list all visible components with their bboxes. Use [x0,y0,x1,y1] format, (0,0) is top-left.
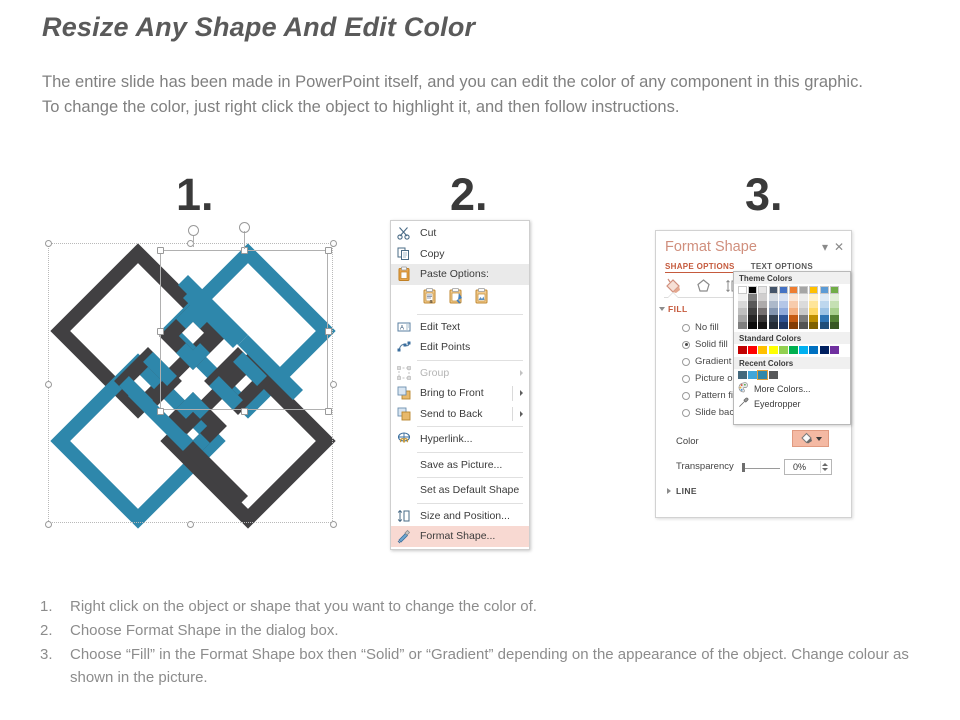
right-click-context-menu[interactable]: Cut Copy Paste Options: [390,220,530,550]
color-swatch[interactable] [748,322,757,329]
transparency-slider-knob[interactable] [742,463,745,472]
instruction-number: 1. [40,595,70,618]
handle-sw[interactable] [45,521,52,528]
inner-handle-e[interactable] [325,328,332,335]
rotate-stem-a [193,235,194,247]
color-swatch[interactable] [738,322,747,329]
color-swatch[interactable] [769,294,778,301]
color-swatch[interactable] [758,308,767,315]
submenu-separator [512,407,513,422]
color-swatch[interactable] [820,286,829,294]
hyperlink-icon [396,431,412,447]
menu-divider [417,360,523,361]
instruction-text: Right click on the object or shape that … [70,595,940,618]
menu-item-save-as-picture[interactable]: Save as Picture... [391,455,529,476]
handle-s[interactable] [187,521,194,528]
menu-label: Edit Points [420,341,470,353]
list-item: 1. Right click on the object or shape th… [40,595,940,618]
color-swatch[interactable] [809,322,818,329]
menu-item-edit-points[interactable]: Edit Points [391,337,529,358]
menu-label: Bring to Front [420,387,484,399]
color-swatch[interactable] [769,315,778,322]
list-item: 2. Choose Format Shape in the dialog box… [40,619,940,642]
theme-color-row[interactable] [738,301,850,308]
inner-handle-sw[interactable] [157,408,164,415]
eyedropper-icon [738,397,749,410]
color-swatch[interactable] [830,286,839,294]
menu-label: Send to Back [420,408,482,420]
color-label: Color [676,436,699,447]
color-swatch[interactable] [779,346,788,354]
theme-color-row[interactable] [738,308,850,315]
color-swatch[interactable] [748,371,757,379]
more-colors-label: More Colors... [754,384,811,394]
instruction-text: Choose Format Shape in the dialog box. [70,619,940,642]
color-swatch[interactable] [789,286,798,294]
scissors-icon [396,225,412,241]
radio-icon [682,409,690,417]
color-swatch[interactable] [779,286,788,294]
color-swatch[interactable] [789,308,798,315]
color-swatch[interactable] [799,286,808,294]
inner-handle-se[interactable] [325,408,332,415]
radio-icon [682,341,690,349]
color-swatch[interactable] [748,286,757,294]
transparency-label: Transparency [676,461,734,472]
eyedropper-item[interactable]: Eyedropper [734,396,850,411]
color-swatch[interactable] [820,315,829,322]
color-swatch[interactable] [769,308,778,315]
chevron-right-icon [520,411,523,417]
step-number-1: 1. [176,172,214,217]
radio-icon [682,375,690,383]
color-picker-button[interactable] [792,430,829,447]
recent-colors-title: Recent Colors [734,357,850,369]
radio-label: Solid fill [695,339,728,350]
chevron-down-icon[interactable] [816,437,822,441]
rotate-handle-b[interactable] [239,222,250,233]
color-swatch[interactable] [830,346,839,354]
page-subtitle: The entire slide has been made in PowerP… [42,70,872,120]
color-swatch[interactable] [830,294,839,301]
inner-handle-ne[interactable] [325,247,332,254]
color-swatch[interactable] [779,315,788,322]
radio-label: No fill [695,322,719,333]
format-shape-title: Format Shape [665,239,757,255]
active-tab-caret [668,293,678,298]
menu-item-edit-text[interactable]: A Edit Text [391,317,529,338]
inner-selection-box[interactable] [160,250,328,410]
radio-icon [682,392,690,400]
group-icon [396,365,412,381]
menu-item-bring-to-front[interactable]: Bring to Front [391,383,529,404]
edit-text-icon: A [396,319,412,335]
menu-item-paste-options[interactable]: Paste Options: [391,264,529,285]
color-swatch[interactable] [830,301,839,308]
color-swatch[interactable] [779,322,788,329]
color-swatch[interactable] [820,322,829,329]
color-swatch[interactable] [758,286,767,294]
step-number-3: 3. [745,172,783,217]
handle-se[interactable] [330,521,337,528]
menu-label: Copy [420,248,445,260]
menu-label: Edit Text [420,321,460,333]
color-swatch[interactable] [758,371,767,379]
menu-item-cut[interactable]: Cut [391,223,529,244]
color-swatch[interactable] [738,346,747,354]
paste-icon [396,266,412,282]
menu-item-hyperlink[interactable]: Hyperlink... [391,429,529,450]
color-swatch[interactable] [769,301,778,308]
color-swatch[interactable] [769,286,778,294]
menu-divider [417,477,523,478]
color-swatch[interactable] [789,346,798,354]
step-number-2: 2. [450,172,488,217]
edit-points-icon [396,339,412,355]
color-swatch[interactable] [779,294,788,301]
menu-item-format-shape[interactable]: Format Shape... [391,526,529,547]
color-swatch[interactable] [799,346,808,354]
fill-section-label: FILL [668,304,688,314]
copy-icon [396,246,412,262]
handle-w[interactable] [45,381,52,388]
theme-color-row[interactable] [738,286,850,294]
menu-label: Set as Default Shape [420,484,519,496]
color-swatch[interactable] [820,308,829,315]
size-position-icon [396,508,412,524]
svg-text:A: A [400,325,404,331]
menu-label: Cut [420,227,436,239]
fill-color-swatch-icon [799,431,814,447]
submenu-separator [512,386,513,401]
menu-label: Group [420,367,449,379]
spinner-arrows-icon[interactable] [820,461,829,473]
paste-keep-source-icon[interactable]: a [421,287,438,308]
color-swatch[interactable] [738,308,747,315]
paste-destination-theme-icon[interactable] [447,287,464,308]
menu-label: Save as Picture... [420,459,502,471]
inner-handle-s[interactable] [241,408,248,415]
color-swatch[interactable] [799,301,808,308]
color-swatch[interactable] [799,315,808,322]
color-swatch[interactable] [748,346,757,354]
color-swatch[interactable] [820,346,829,354]
standard-colors-row[interactable] [734,344,850,357]
color-swatch[interactable] [799,294,808,301]
color-swatch[interactable] [789,294,798,301]
page-title: Resize Any Shape And Edit Color [42,12,475,43]
color-swatch[interactable] [809,346,818,354]
color-swatch[interactable] [820,294,829,301]
color-swatch[interactable] [789,301,798,308]
theme-color-row[interactable] [738,315,850,322]
fill-section-header[interactable]: FILL [668,304,688,314]
color-swatch[interactable] [789,315,798,322]
color-swatch[interactable] [789,322,798,329]
menu-divider [417,426,523,427]
line-section-header[interactable]: LINE [676,486,697,496]
color-swatch[interactable] [799,308,808,315]
tab-shape-options[interactable]: SHAPE OPTIONS [665,262,735,273]
line-section-label: LINE [676,486,697,496]
menu-item-group[interactable]: Group [391,363,529,384]
menu-divider [417,314,523,315]
inner-handle-w[interactable] [157,328,164,335]
theme-color-row[interactable] [738,294,850,301]
radio-icon [682,324,690,332]
color-swatch[interactable] [738,371,747,379]
color-swatch[interactable] [820,301,829,308]
handle-nw[interactable] [45,240,52,247]
triangle-down-icon [659,307,665,311]
color-swatch[interactable] [809,315,818,322]
radio-label: Pattern fill [695,390,737,401]
color-swatch[interactable] [748,301,757,308]
color-swatch[interactable] [809,301,818,308]
transparency-slider-track[interactable] [744,468,780,469]
radio-solid-fill[interactable]: Solid fill [682,339,728,350]
color-swatch[interactable] [748,308,757,315]
eyedropper-label: Eyedropper [754,399,801,409]
transparency-value: 0% [793,462,806,472]
handle-e[interactable] [330,381,337,388]
instruction-number: 2. [40,619,70,642]
list-item: 3. Choose “Fill” in the Format Shape box… [40,643,940,689]
color-swatch[interactable] [799,322,808,329]
instructions-list: 1. Right click on the object or shape th… [40,595,940,690]
color-swatch[interactable] [769,346,778,354]
effects-pentagon-icon[interactable] [694,277,713,298]
color-swatch[interactable] [779,301,788,308]
color-swatch[interactable] [748,294,757,301]
color-swatch[interactable] [830,322,839,329]
send-to-back-icon [396,406,412,422]
format-shape-icon [396,528,412,544]
color-swatch[interactable] [830,308,839,315]
close-icon[interactable]: ✕ [834,240,844,254]
menu-divider [417,452,523,453]
collapse-icon[interactable]: ▾ [822,240,828,254]
color-swatch[interactable] [758,346,767,354]
paste-options-icon-row[interactable]: a [391,285,529,312]
color-swatch[interactable] [758,294,767,301]
theme-colors-title: Theme Colors [734,272,850,284]
recent-colors-row[interactable] [734,369,850,381]
menu-item-copy[interactable]: Copy [391,244,529,265]
color-swatch[interactable] [758,322,767,329]
color-swatch[interactable] [758,301,767,308]
color-swatch[interactable] [738,315,747,322]
chevron-right-icon [520,370,523,376]
shape-graphic-panel[interactable] [38,228,348,533]
palette-icon [738,382,749,395]
paste-picture-icon[interactable] [473,287,490,308]
color-swatch[interactable] [738,294,747,301]
menu-item-set-as-default-shape[interactable]: Set as Default Shape [391,480,529,501]
transparency-value-field[interactable]: 0% [784,459,832,475]
chevron-right-icon [520,390,523,396]
rotate-handle-a[interactable] [188,225,199,236]
radio-pattern-fill[interactable]: Pattern fill [682,390,737,401]
menu-divider [417,503,523,504]
handle-ne[interactable] [330,240,337,247]
radio-no-fill[interactable]: No fill [682,322,719,333]
color-swatch[interactable] [748,315,757,322]
color-swatch[interactable] [809,286,818,294]
color-swatch[interactable] [769,322,778,329]
menu-item-size-and-position[interactable]: Size and Position... [391,506,529,527]
color-swatch[interactable] [738,301,747,308]
radio-icon [682,358,690,366]
more-colors-item[interactable]: More Colors... [734,381,850,396]
color-swatch[interactable] [809,308,818,315]
theme-colors-grid[interactable] [734,284,850,332]
color-swatch[interactable] [758,315,767,322]
triangle-right-icon [667,488,671,494]
color-swatch[interactable] [809,294,818,301]
color-swatch[interactable] [738,286,747,294]
menu-label: Format Shape... [420,530,495,542]
inner-handle-nw[interactable] [157,247,164,254]
rotate-stem-b [244,231,245,249]
standard-colors-title: Standard Colors [734,332,850,344]
menu-label: Size and Position... [420,510,510,522]
menu-label: Paste Options: [420,268,489,280]
menu-label: Hyperlink... [420,433,473,445]
theme-color-row[interactable] [738,322,850,329]
instruction-number: 3. [40,643,70,689]
bring-to-front-icon [396,385,412,401]
color-swatch[interactable] [779,308,788,315]
color-swatch[interactable] [830,315,839,322]
color-swatch[interactable] [769,371,778,379]
instruction-text: Choose “Fill” in the Format Shape box th… [70,643,940,689]
menu-item-send-to-back[interactable]: Send to Back [391,404,529,425]
color-picker-dropdown[interactable]: Theme Colors Standard Colors Recent Colo… [733,271,851,425]
